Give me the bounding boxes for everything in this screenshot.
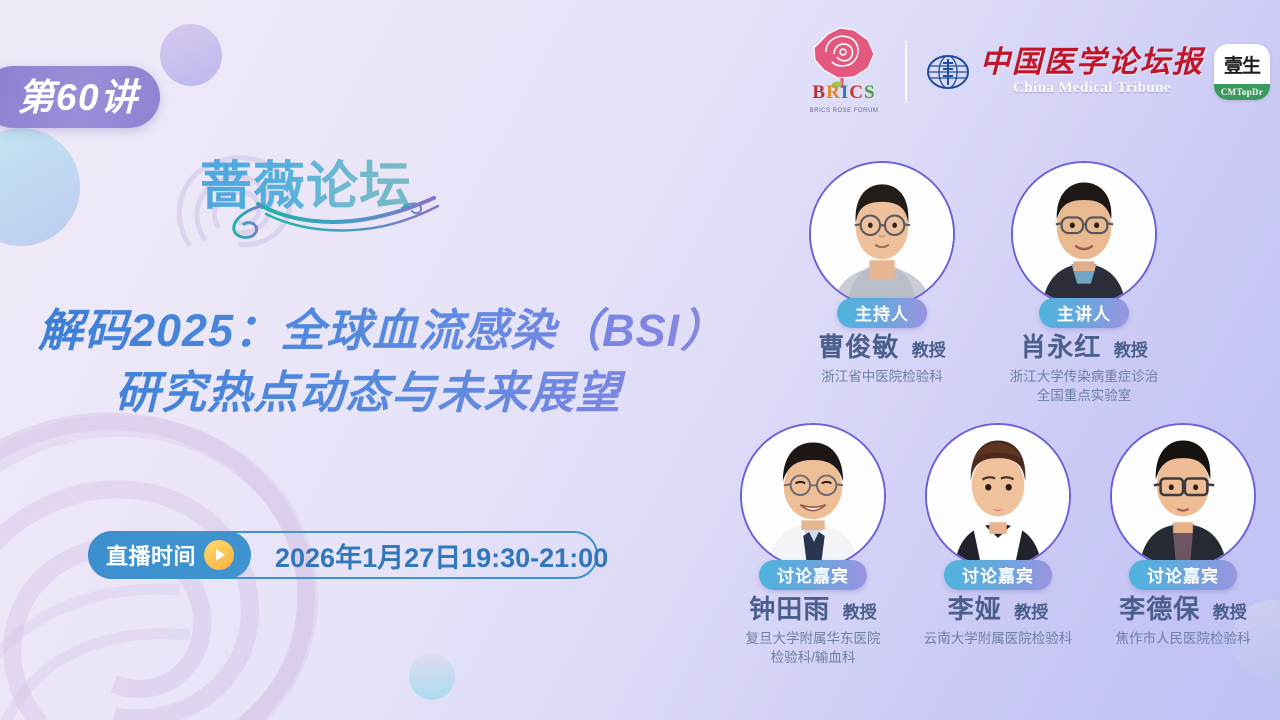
speaker-name-row: 肖永红 教授 (984, 334, 1184, 360)
cmtopdr-app-badge: 壹生 CMTopDr (1214, 44, 1270, 100)
speaker-org: 复旦大学附属华东医院 检验科/输血科 (713, 629, 913, 667)
title-line-2: 研究热点动态与未来展望 (38, 362, 758, 424)
brics-wordmark: BRICS (801, 83, 887, 102)
globe-icon (925, 52, 971, 92)
live-time-bar: 直播时间 2026年1月27日19:30-21:00 (88, 531, 608, 579)
page-title: 解码2025：全球血流感染（BSI） 研究热点动态与未来展望 (38, 300, 758, 424)
speaker-title: 教授 (1114, 341, 1148, 360)
role-badge: 主持人 (837, 298, 927, 328)
speaker-org: 浙江省中医院检验科 (782, 367, 982, 386)
speaker-name: 钟田雨 (749, 594, 830, 624)
decorative-circle-cyan (0, 128, 80, 246)
brics-subtitle: BRICS ROSE FORUM (801, 108, 887, 114)
tribune-name-en: China Medical Tribune (1013, 80, 1171, 97)
speaker-name-row: 李德保 教授 (1083, 596, 1280, 622)
speaker-org-line: 浙江大学传染病重症诊治 (984, 367, 1184, 386)
avatar (1011, 161, 1157, 307)
play-icon (204, 540, 234, 570)
speaker-name-row: 曹俊敏 教授 (782, 334, 982, 360)
brics-logo: BRICS BRICS ROSE FORUM (801, 26, 887, 118)
speaker-org-line: 全国重点实验室 (984, 386, 1184, 405)
role-badge: 讨论嘉宾 (759, 560, 867, 590)
brics-rose-icon (801, 26, 887, 88)
logo-swirl-ornament (206, 192, 441, 245)
live-time-value: 2026年1月27日19:30-21:00 (275, 536, 608, 575)
app-badge-code: CMTopDr (1214, 84, 1270, 100)
speaker-title: 教授 (843, 603, 877, 622)
speaker-card-0: 主持人 曹俊敏 教授 浙江省中医院检验科 (782, 161, 982, 386)
speaker-card-1: 主讲人 肖永红 教授 浙江大学传染病重症诊治 全国重点实验室 (984, 161, 1184, 405)
speaker-card-3: 讨论嘉宾 李娅 教授 云南大学附属医院检验科 (898, 423, 1098, 648)
role-badge: 讨论嘉宾 (1129, 560, 1237, 590)
speaker-name: 曹俊敏 (818, 332, 899, 362)
speaker-name-row: 李娅 教授 (898, 596, 1098, 622)
speaker-name: 李德保 (1119, 594, 1200, 624)
speaker-name-row: 钟田雨 教授 (713, 596, 913, 622)
speaker-org-line: 焦作市人民医院检验科 (1083, 629, 1280, 648)
decorative-circle-purple (160, 24, 222, 86)
speaker-card-4: 讨论嘉宾 李德保 教授 焦作市人民医院检验科 (1083, 423, 1280, 648)
lecture-number-label: 第60讲 (3, 79, 138, 116)
avatar (809, 161, 955, 307)
speaker-org: 浙江大学传染病重症诊治 全国重点实验室 (984, 367, 1184, 405)
role-badge: 主讲人 (1039, 298, 1129, 328)
live-time-pill: 直播时间 (88, 531, 251, 579)
role-badge: 讨论嘉宾 (944, 560, 1052, 590)
tribune-name-cn: 中国医学论坛报 (980, 47, 1204, 79)
forum-logo: 蔷薇论坛 (196, 146, 446, 234)
speaker-org-line: 云南大学附属医院检验科 (898, 629, 1098, 648)
avatar (740, 423, 886, 569)
title-line-1: 解码2025：全球血流感染（BSI） (38, 300, 758, 362)
speaker-title: 教授 (912, 341, 946, 360)
app-badge-name: 壹生 (1214, 44, 1270, 84)
speaker-org: 云南大学附属医院检验科 (898, 629, 1098, 648)
avatar (925, 423, 1071, 569)
speaker-org-line: 浙江省中医院检验科 (782, 367, 982, 386)
speaker-card-2: 讨论嘉宾 钟田雨 教授 复旦大学附属华东医院 检验科/输血科 (713, 423, 913, 667)
speaker-name: 李娅 (948, 594, 1002, 624)
avatar (1110, 423, 1256, 569)
speaker-title: 教授 (1014, 603, 1048, 622)
speaker-org: 焦作市人民医院检验科 (1083, 629, 1280, 648)
speaker-title: 教授 (1213, 603, 1247, 622)
speaker-name: 肖永红 (1020, 332, 1101, 362)
lecture-number-badge: 第60讲 (0, 66, 160, 128)
speaker-org-line: 检验科/输血科 (713, 648, 913, 667)
speaker-org-line: 复旦大学附属华东医院 (713, 629, 913, 648)
china-medical-tribune-logo: 中国医学论坛报 China Medical Tribune (925, 47, 1204, 97)
webinar-poster: 第60讲 蔷薇论坛 (0, 0, 1280, 720)
decorative-circle-small-blue (409, 654, 455, 700)
brand-divider (905, 41, 907, 103)
live-time-label: 直播时间 (106, 539, 196, 571)
brand-header: BRICS BRICS ROSE FORUM 中国医学论坛报 China Med… (801, 26, 1270, 118)
